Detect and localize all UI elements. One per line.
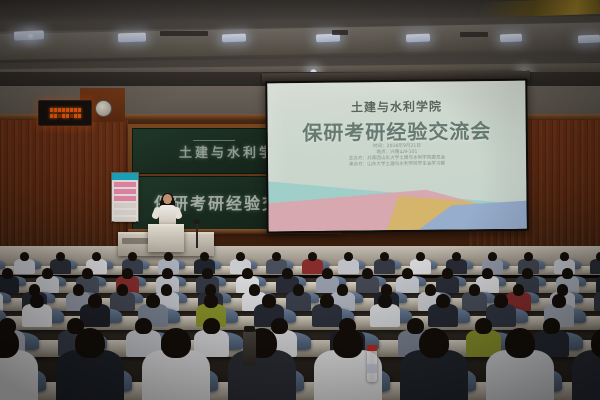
audience-member bbox=[22, 294, 52, 331]
slide-main-title: 保研考研经验交流会 bbox=[268, 115, 526, 147]
ceiling-panel-light bbox=[500, 34, 522, 43]
led-scrolling-sign bbox=[38, 100, 92, 126]
bottle-cap bbox=[367, 345, 377, 351]
audience-member-head bbox=[262, 294, 276, 308]
audience-member-head bbox=[122, 268, 133, 279]
led-row-2 bbox=[50, 114, 81, 118]
microphone-stand bbox=[196, 222, 198, 248]
audience-member-head bbox=[482, 268, 493, 279]
ceiling-vent bbox=[160, 31, 208, 36]
audience-member-head bbox=[30, 294, 44, 308]
audience-member-head bbox=[320, 294, 334, 308]
ceiling-vent bbox=[332, 30, 348, 35]
chalk-underline bbox=[193, 140, 235, 141]
audience-member-head bbox=[161, 328, 191, 358]
audience-member-head bbox=[88, 294, 102, 308]
podium bbox=[148, 224, 184, 252]
audience-member bbox=[56, 328, 124, 400]
water-bottle bbox=[367, 350, 377, 382]
audience-member-head bbox=[552, 294, 566, 308]
audience-member bbox=[228, 328, 296, 400]
audience-member-head bbox=[293, 284, 305, 296]
audience-member-head bbox=[362, 268, 373, 279]
audience-member-head bbox=[242, 268, 253, 279]
poster-body bbox=[112, 180, 138, 224]
audience-member bbox=[400, 328, 468, 400]
audience-member-head bbox=[42, 268, 53, 279]
presentation-slide: 土建与水利学院 保研考研经验交流会 时间：2016年9月21日地点：兴隆山9-1… bbox=[267, 81, 527, 232]
wall-poster bbox=[111, 172, 139, 222]
audience-member-head bbox=[402, 268, 413, 279]
audience-member bbox=[572, 328, 600, 400]
audience-member bbox=[142, 328, 210, 400]
audience-member bbox=[594, 284, 600, 314]
audience-member-head bbox=[204, 294, 218, 308]
audience-member-head bbox=[75, 328, 105, 358]
audience-member bbox=[486, 328, 554, 400]
audience-member-head bbox=[436, 294, 450, 308]
audience-member-head bbox=[333, 328, 363, 358]
slide-decorative-artwork bbox=[268, 171, 527, 232]
audience-member bbox=[462, 284, 487, 314]
ceiling-panel-light bbox=[222, 34, 246, 43]
audience-member bbox=[396, 268, 419, 295]
audience-member-torso bbox=[572, 350, 600, 400]
poster-header bbox=[112, 173, 138, 180]
audience-member-head bbox=[117, 284, 129, 296]
audience-member-head bbox=[562, 268, 573, 279]
slide-meta-line: 承办方：山东大学土建与水利学院学生会学习部 bbox=[268, 161, 526, 170]
audience-member-head bbox=[419, 328, 449, 358]
microphone-icon bbox=[193, 219, 200, 224]
audience-member-head bbox=[146, 294, 160, 308]
audience-member-head bbox=[442, 268, 453, 279]
audience-member-head bbox=[82, 268, 93, 279]
wall-left-wood bbox=[0, 118, 128, 260]
audience-member-head bbox=[505, 328, 535, 358]
ceiling-panel-light bbox=[118, 33, 146, 43]
ceiling-vent bbox=[460, 32, 488, 37]
ceiling-spotlight bbox=[26, 32, 35, 39]
audience-member-head bbox=[162, 268, 173, 279]
audience-member-head bbox=[202, 268, 213, 279]
lecture-hall-photo: 土建与水利学院 保研考研经验交流会 土建与水利学院 保研考研经验交流会 时间：2… bbox=[0, 0, 600, 400]
audience-member-head bbox=[469, 284, 481, 296]
audience-member bbox=[370, 294, 400, 331]
ceiling-panel-light bbox=[578, 35, 600, 44]
audience-member bbox=[0, 328, 38, 400]
slide-organization-title: 土建与水利学院 bbox=[267, 97, 525, 117]
audience-member-head bbox=[522, 268, 533, 279]
projection-screen: 土建与水利学院 保研考研经验交流会 时间：2016年9月21日地点：兴隆山9-1… bbox=[265, 79, 529, 234]
slide-meta-block: 时间：2016年9月21日地点：兴隆山9-101主办方：共青团山东大学土建与水利… bbox=[268, 143, 526, 170]
audience-member-head bbox=[378, 294, 392, 308]
audience-member-head bbox=[494, 294, 508, 308]
audience-member-head bbox=[596, 252, 600, 261]
bottle-label bbox=[367, 364, 377, 373]
audience-member-torso bbox=[594, 292, 600, 310]
wall-clock-icon bbox=[95, 100, 112, 117]
thermos-bottle bbox=[243, 330, 256, 366]
thermos-cap bbox=[244, 326, 255, 332]
audience-member-head bbox=[2, 268, 13, 279]
audience-member-head bbox=[282, 268, 293, 279]
presenter-torso bbox=[159, 205, 176, 225]
led-row-1 bbox=[50, 108, 81, 112]
ceiling-panel-light bbox=[406, 34, 430, 43]
audience-member-torso bbox=[0, 292, 3, 310]
audience-member-head bbox=[322, 268, 333, 279]
